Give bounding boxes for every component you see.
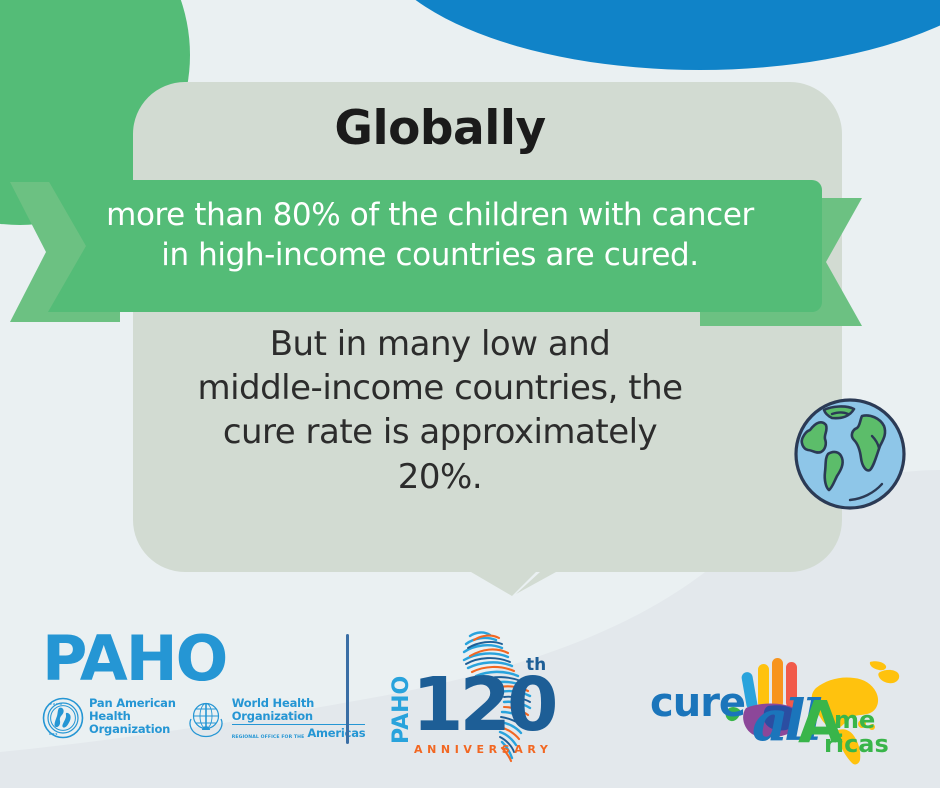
body-line-1: But in many low and xyxy=(150,322,730,366)
svg-text:PAHO: PAHO xyxy=(389,676,414,744)
anniversary-paho-vertical: PAHO xyxy=(389,676,414,744)
paho-120-anniversary-logo[interactable]: PAHO 120 th ANNIVERSARY xyxy=(378,626,578,766)
body-line-2: middle-income countries, the xyxy=(150,366,730,410)
globe-icon xyxy=(788,392,912,516)
who-americas-label: Americas xyxy=(307,727,365,740)
who-regional-office-label: REGIONAL OFFICE FOR THE xyxy=(232,735,305,740)
who-emblem-block: World Health Organization REGIONAL OFFIC… xyxy=(185,697,366,740)
svg-text:O P S: O P S xyxy=(49,732,57,736)
ribbon-line-1: more than 80% of the children with cance… xyxy=(60,196,800,236)
ribbon-text: more than 80% of the children with cance… xyxy=(60,196,800,275)
body-line-3: cure rate is approximately xyxy=(150,410,730,454)
who-emblem-icon xyxy=(185,697,227,739)
svg-text:P A H O: P A H O xyxy=(50,702,62,706)
cureall-word-cure: cure xyxy=(650,680,745,726)
body-text: But in many low and middle-income countr… xyxy=(150,322,730,499)
body-line-4: 20%. xyxy=(150,455,730,499)
pan-american-health-organization-label: Pan American Health Organization xyxy=(89,697,176,736)
paho-wordmark: PAHO xyxy=(42,628,322,690)
ribbon-line-2: in high-income countries are cured. xyxy=(60,236,800,276)
paho-logo[interactable]: PAHO P A H O O P S xyxy=(42,628,322,768)
cureall-word-ricas: ricas xyxy=(824,730,889,758)
anniversary-caption: ANNIVERSARY xyxy=(414,743,552,756)
footer-logos: PAHO P A H O O P S xyxy=(0,610,940,788)
page-title: Globally xyxy=(140,104,740,153)
paho-emblem-block: P A H O O P S Pan American Health Organi… xyxy=(42,697,176,739)
cureall-americas-logo[interactable]: cure all A me ricas xyxy=(648,654,910,766)
infographic-canvas: Globally more than 80% of the children w… xyxy=(0,0,940,788)
footer-divider xyxy=(346,634,349,744)
paho-sub-line-3: Organization xyxy=(89,723,176,736)
paho-emblem-icon: P A H O O P S xyxy=(42,697,84,739)
anniversary-ordinal: th xyxy=(526,655,546,675)
